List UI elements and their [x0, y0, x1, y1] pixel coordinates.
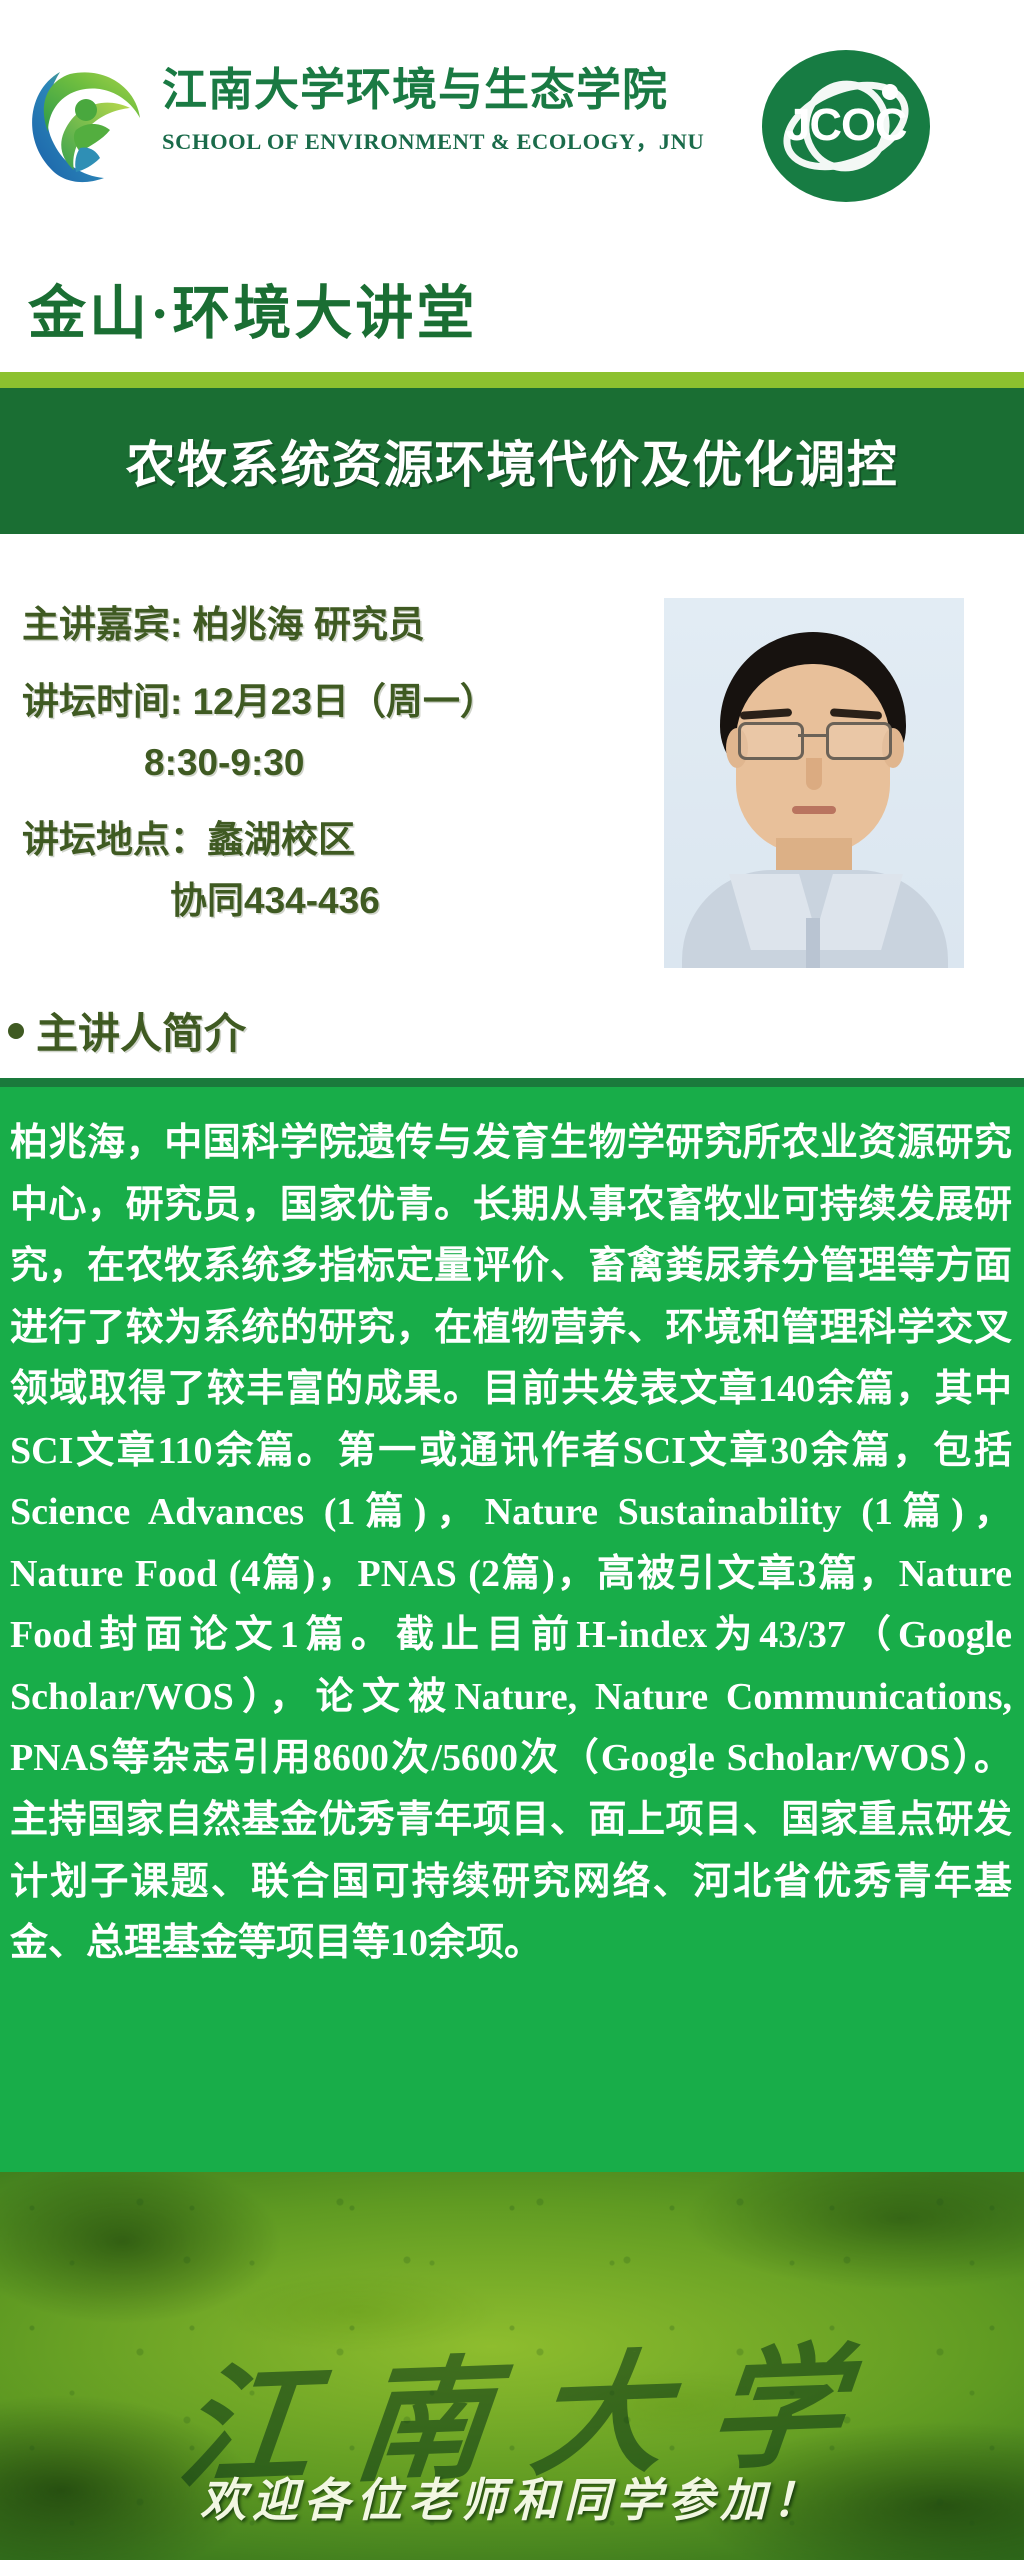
portrait-mouth [792, 806, 836, 814]
school-logo-icon [24, 60, 156, 192]
detail-date: 讲坛时间: 12月23日（周一） [22, 683, 622, 720]
school-name-cn: 江南大学环境与生态学院 [162, 62, 742, 118]
portrait-nose [806, 758, 822, 790]
poster-header: 江南大学环境与生态学院 SCHOOL OF ENVIRONMENT & ECOL… [0, 44, 1024, 224]
detail-speaker: 主讲嘉宾: 柏兆海 研究员 [22, 606, 622, 643]
portrait-lens-left [738, 722, 804, 760]
jcoc-badge: JCOC [762, 50, 930, 202]
welcome-message: 欢迎各位老师和同学参加！ [0, 2464, 1024, 2530]
portrait-glasses-bridge [798, 734, 826, 737]
portrait-placket [806, 918, 820, 968]
portrait-glasses [732, 722, 894, 756]
detail-room: 协同434-436 [22, 882, 622, 919]
detail-time: 8:30-9:30 [22, 744, 622, 781]
bio-text: 柏兆海，中国科学院遗传与发育生物学研究所农业资源研究中心，研究员，国家优青。长期… [10, 1113, 1012, 1975]
title-banner: 农牧系统资源环境代价及优化调控 [0, 388, 1024, 534]
school-name-en: SCHOOL OF ENVIRONMENT & ECOLOGY，JNU [162, 124, 742, 156]
bio-box: 柏兆海，中国科学院遗传与发育生物学研究所农业资源研究中心，研究员，国家优青。长期… [0, 1087, 1024, 2172]
school-name-block: 江南大学环境与生态学院 SCHOOL OF ENVIRONMENT & ECOL… [162, 62, 742, 156]
bullet-dot-icon [8, 1023, 24, 1039]
jcoc-badge-label: JCOC [762, 99, 930, 151]
bio-heading-label: 主讲人简介 [36, 1000, 246, 1061]
bio-divider [0, 1078, 1024, 1087]
campus-rock-photo: 江南大学 欢迎各位老师和同学参加！ [0, 2172, 1024, 2560]
accent-bar [0, 372, 1024, 388]
poster-root: 江南大学环境与生态学院 SCHOOL OF ENVIRONMENT & ECOL… [0, 0, 1024, 2560]
series-title: 金山·环境大讲堂 [28, 266, 477, 350]
speaker-portrait [664, 598, 964, 968]
event-details: 主讲嘉宾: 柏兆海 研究员 讲坛时间: 12月23日（周一） 8:30-9:30… [22, 606, 622, 919]
talk-title: 农牧系统资源环境代价及优化调控 [0, 388, 1024, 534]
portrait-lens-right [826, 722, 892, 760]
detail-venue: 讲坛地点：蠡湖校区 [22, 821, 622, 858]
bio-heading: 主讲人简介 [8, 1000, 246, 1061]
